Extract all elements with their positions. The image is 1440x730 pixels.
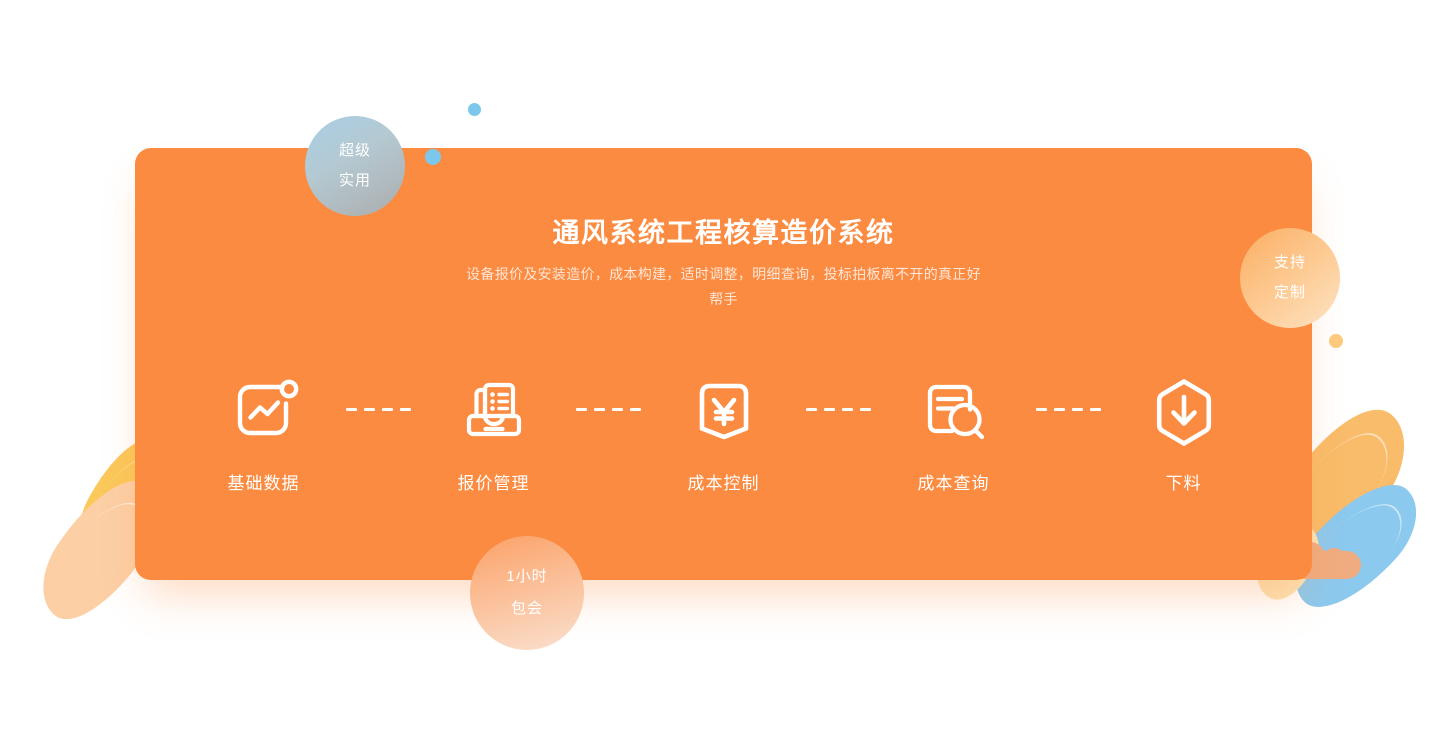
dash [842,408,853,411]
feature-label: 成本查询 [918,469,990,494]
blue-dot-top-icon [468,103,481,116]
badge-line-2: 定制 [1274,278,1306,308]
promo-card: 通风系统工程核算造价系统 设备报价及安装造价，成本构建，适时调整，明细查询，投标… [135,148,1312,580]
badge-line-1: 1小时 [506,561,547,593]
badge-super-practical: 超级 实用 [305,116,405,216]
feature-item-basic-data[interactable]: 基础数据 [188,363,340,494]
badge-line-2: 实用 [339,166,371,196]
dash [824,408,835,411]
badge-one-hour-mastery: 1小时 包会 [470,536,584,650]
badge-line-1: 超级 [339,136,371,166]
chart-card-icon [222,363,306,455]
dash [630,408,641,411]
dash [1036,408,1047,411]
blue-dot-upper-icon [425,149,441,165]
document-search-icon [912,363,996,455]
feature-label: 成本控制 [688,469,760,494]
feature-label: 报价管理 [458,469,530,494]
feature-label: 基础数据 [228,469,300,494]
dash [1072,408,1083,411]
page-title: 通风系统工程核算造价系统 [135,211,1312,250]
salmon-cloud-bump-right-icon [1322,548,1346,572]
feature-item-quotation-management[interactable]: 报价管理 [418,363,570,494]
dash [346,408,357,411]
feature-label: 下料 [1166,469,1202,494]
connector-dashes [340,363,418,455]
feature-item-material-cutting[interactable]: 下料 [1108,363,1260,494]
feature-item-cost-query[interactable]: 成本查询 [878,363,1030,494]
dash [576,408,587,411]
yuan-tag-icon [682,363,766,455]
orange-dot-right-icon [1329,334,1343,348]
page-subtitle: 设备报价及安装造价，成本构建，适时调整，明细查询，投标拍板离不开的真正好帮手 [464,262,984,312]
dash [382,408,393,411]
connector-dashes [1030,363,1108,455]
badge-line-2: 包会 [511,593,543,625]
dash [860,408,871,411]
connector-dashes [800,363,878,455]
dash [806,408,817,411]
badge-supports-customization: 支持 定制 [1240,228,1340,328]
feature-list: 基础数据 [135,363,1312,494]
dash [1090,408,1101,411]
dash [1054,408,1065,411]
dash [364,408,375,411]
page-root: 通风系统工程核算造价系统 设备报价及安装造价，成本构建，适时调整，明细查询，投标… [0,0,1440,730]
dash [400,408,411,411]
dash [612,408,623,411]
dash [594,408,605,411]
feature-item-cost-control[interactable]: 成本控制 [648,363,800,494]
connector-dashes [570,363,648,455]
hexagon-download-icon [1142,363,1226,455]
inbox-document-icon [452,363,536,455]
badge-line-1: 支持 [1274,248,1306,278]
